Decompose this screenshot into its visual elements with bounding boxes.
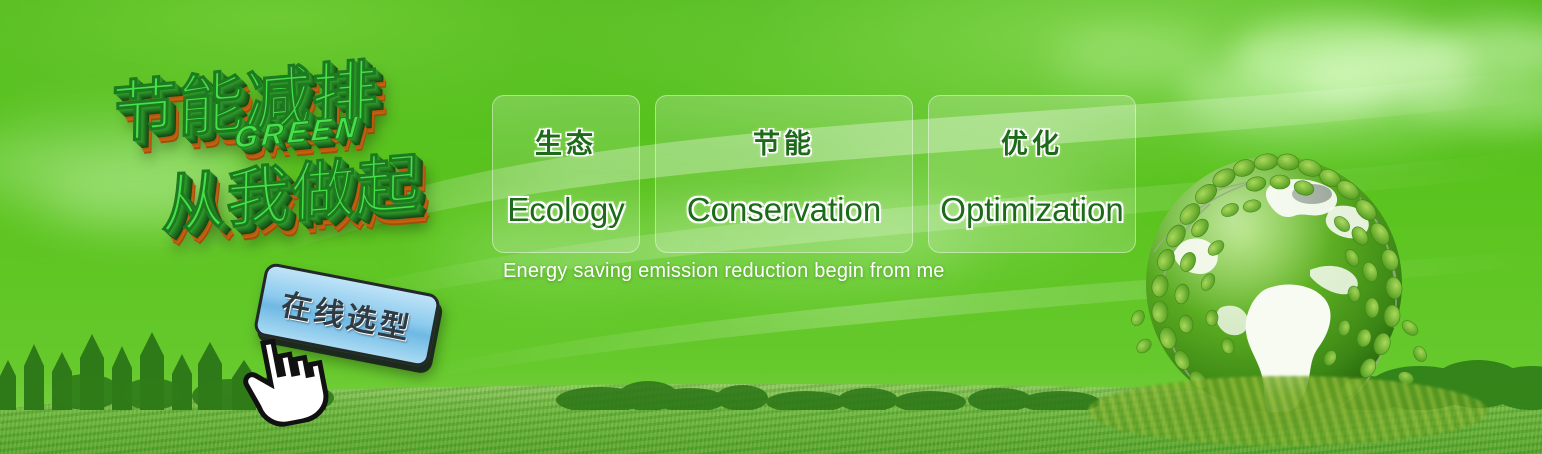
feature-card-cn-label: 优化 (1001, 122, 1063, 161)
feature-card-cn-label: 节能 (753, 122, 815, 161)
feature-card-en-label: Conservation (687, 191, 881, 229)
eco-promo-banner: 节能减排 GREEN 从我做起 在线选型 生态 Ecology 节能 Conse… (0, 0, 1542, 454)
banner-subtitle: Energy saving emission reduction begin f… (503, 260, 945, 283)
feature-card-list: 生态 Ecology 节能 Conservation 优化 Optimizati… (492, 95, 1136, 253)
fallen-leaves-icon (1088, 376, 1488, 446)
feature-card-en-label: Ecology (507, 191, 624, 229)
leaf-covered-globe-icon (1124, 132, 1434, 442)
feature-card-en-label: Optimization (940, 191, 1123, 229)
feature-card-cn-label: 生态 (535, 122, 597, 161)
pointing-hand-cursor-icon (232, 323, 335, 434)
headline-artwork: 节能减排 GREEN 从我做起 (91, 21, 510, 285)
feature-card-conservation[interactable]: 节能 Conservation (655, 95, 913, 253)
feature-card-optimization[interactable]: 优化 Optimization (928, 95, 1136, 253)
feature-card-ecology[interactable]: 生态 Ecology (492, 95, 640, 253)
